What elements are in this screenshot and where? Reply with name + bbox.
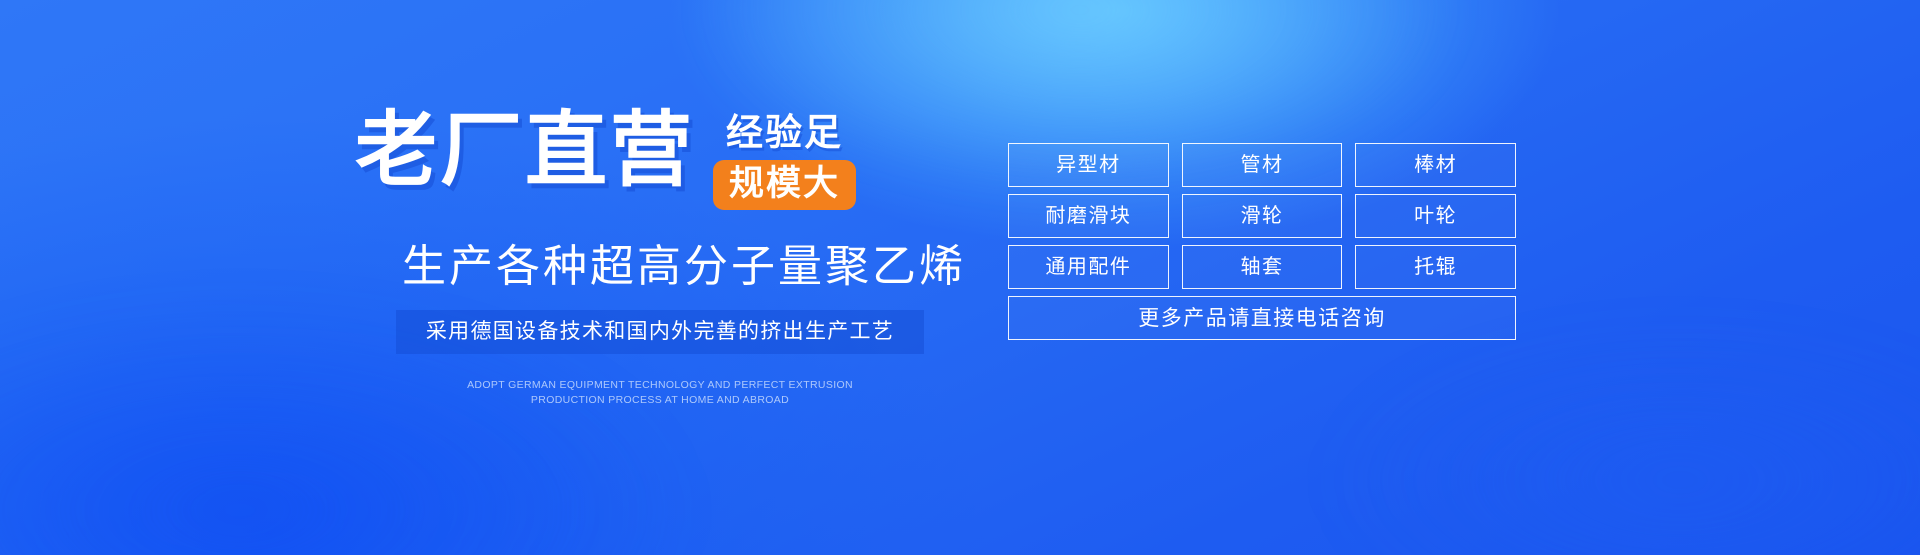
badge-experience: 经验足 — [726, 112, 843, 154]
headline-main: 老厂直营 — [355, 108, 695, 194]
category-button-tuogun[interactable]: 托辊 — [1355, 245, 1516, 289]
contact-cta-button[interactable]: 更多产品请直接电话咨询 — [1008, 296, 1516, 340]
category-button-naimohuakuai[interactable]: 耐磨滑块 — [1008, 194, 1169, 238]
english-tagline: ADOPT GERMAN EQUIPMENT TECHNOLOGY AND PE… — [400, 378, 920, 408]
category-button-yelun[interactable]: 叶轮 — [1355, 194, 1516, 238]
category-label: 轴套 — [1241, 256, 1284, 278]
category-button-zhoutao[interactable]: 轴套 — [1182, 245, 1343, 289]
english-tagline-line-1: ADOPT GERMAN EQUIPMENT TECHNOLOGY AND PE… — [400, 378, 920, 393]
category-label: 托辊 — [1414, 256, 1457, 278]
contact-cta-label: 更多产品请直接电话咨询 — [1138, 307, 1386, 330]
tagline-bar: 采用德国设备技术和国内外完善的挤出生产工艺 — [396, 310, 924, 354]
banner-copy-block: 老厂直营 经验足 规模大 生产各种超高分子量聚乙烯 采用德国设备技术和国内外完善… — [0, 0, 1000, 555]
category-button-hualun[interactable]: 滑轮 — [1182, 194, 1343, 238]
category-label: 异型材 — [1056, 154, 1121, 176]
category-label: 通用配件 — [1045, 256, 1131, 278]
sub-headline: 生产各种超高分子量聚乙烯 — [384, 240, 984, 294]
english-tagline-line-2: PRODUCTION PROCESS AT HOME AND ABROAD — [400, 393, 920, 408]
category-button-yixingcai[interactable]: 异型材 — [1008, 143, 1169, 187]
promo-banner: 老厂直营 经验足 规模大 生产各种超高分子量聚乙烯 采用德国设备技术和国内外完善… — [0, 0, 1920, 555]
category-label: 耐磨滑块 — [1045, 205, 1131, 227]
category-button-tongyongpeijian[interactable]: 通用配件 — [1008, 245, 1169, 289]
category-label: 棒材 — [1414, 154, 1457, 176]
headline-row: 老厂直营 经验足 规模大 — [355, 108, 856, 210]
category-label: 滑轮 — [1241, 205, 1284, 227]
headline-badge-stack: 经验足 规模大 — [713, 112, 856, 210]
category-button-guancai[interactable]: 管材 — [1182, 143, 1343, 187]
category-row: 异型材 管材 棒材 — [1008, 143, 1516, 187]
product-category-grid: 异型材 管材 棒材 耐磨滑块 滑轮 叶轮 通用配件 — [1008, 143, 1516, 340]
badge-scale: 规模大 — [713, 160, 856, 210]
glow-shadow-bottom-right — [1330, 330, 1920, 555]
category-row: 耐磨滑块 滑轮 叶轮 — [1008, 194, 1516, 238]
category-label: 叶轮 — [1414, 205, 1457, 227]
category-label: 管材 — [1241, 154, 1284, 176]
category-row: 通用配件 轴套 托辊 — [1008, 245, 1516, 289]
tagline-text: 采用德国设备技术和国内外完善的挤出生产工艺 — [426, 320, 894, 344]
category-button-bangcai[interactable]: 棒材 — [1355, 143, 1516, 187]
